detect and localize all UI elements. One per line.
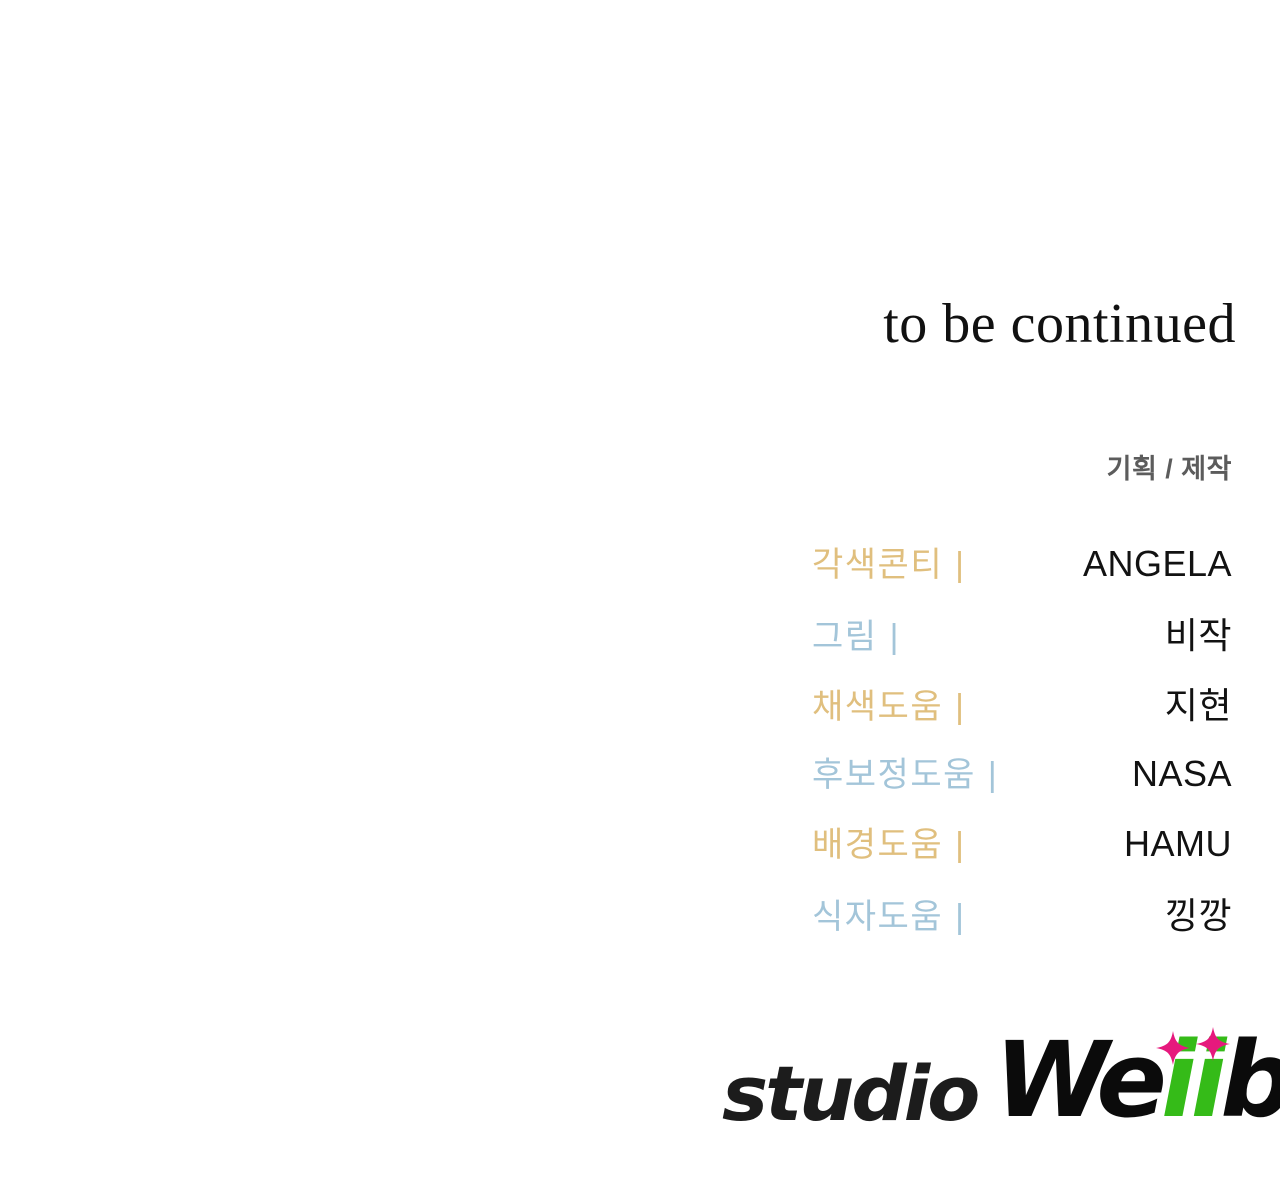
logo-b-part: b [1220, 1019, 1280, 1141]
credit-person-name: NASA [1132, 753, 1232, 794]
credit-person-name: HAMU [1124, 823, 1232, 864]
logo-we-part: We [994, 1019, 1161, 1141]
credit-person-name: 지현 [1165, 685, 1232, 726]
ending-credits-page: to be continued 기획 / 제작 각색콘티| ANGELA 그림|… [0, 0, 1280, 1185]
studio-weiib-logo: studio Weiib [722, 1022, 1280, 1132]
credit-row: 배경도움| HAMU [0, 817, 1236, 887]
credit-name-cell: HAMU [812, 823, 1236, 865]
credit-name-cell: NASA [812, 753, 1236, 795]
logo-ii-part: ii [1161, 1019, 1220, 1141]
to-be-continued-text: to be continued [0, 296, 1236, 352]
credit-row: 각색콘티| ANGELA [0, 537, 1236, 607]
credit-label-cell: 후보정도움| [0, 747, 812, 796]
credit-label-cell: 각색콘티| [0, 537, 812, 586]
credit-label-cell: 그림| [0, 609, 812, 658]
credit-row: 채색도움| 지현 [0, 677, 1236, 747]
credit-person-name: ANGELA [1083, 543, 1232, 584]
credit-row: 후보정도움| NASA [0, 747, 1236, 817]
credit-label-cell: 배경도움| [0, 817, 812, 866]
logo-word-studio: studio [722, 1056, 977, 1132]
credit-label-cell: 식자도움| [0, 889, 812, 938]
credit-name-cell: 지현 [812, 677, 1236, 729]
credit-person-name: 낑깡 [1165, 895, 1232, 936]
credit-name-cell: 비작 [812, 607, 1236, 659]
credits-block: 기획 / 제작 각색콘티| ANGELA 그림| 비작 [0, 455, 1236, 957]
credit-name-cell: 낑깡 [812, 887, 1236, 939]
credit-row: 식자도움| 낑깡 [0, 887, 1236, 957]
credit-row: 그림| 비작 [0, 607, 1236, 677]
credit-person-name: 비작 [1165, 615, 1232, 656]
credit-rows-list: 각색콘티| ANGELA 그림| 비작 채색도움| 지현 [0, 537, 1236, 957]
credits-header: 기획 / 제작 [0, 455, 1236, 485]
credit-name-cell: ANGELA [812, 543, 1236, 585]
logo-word-weiib: Weiib [994, 1028, 1280, 1132]
credit-label-cell: 채색도움| [0, 679, 812, 728]
